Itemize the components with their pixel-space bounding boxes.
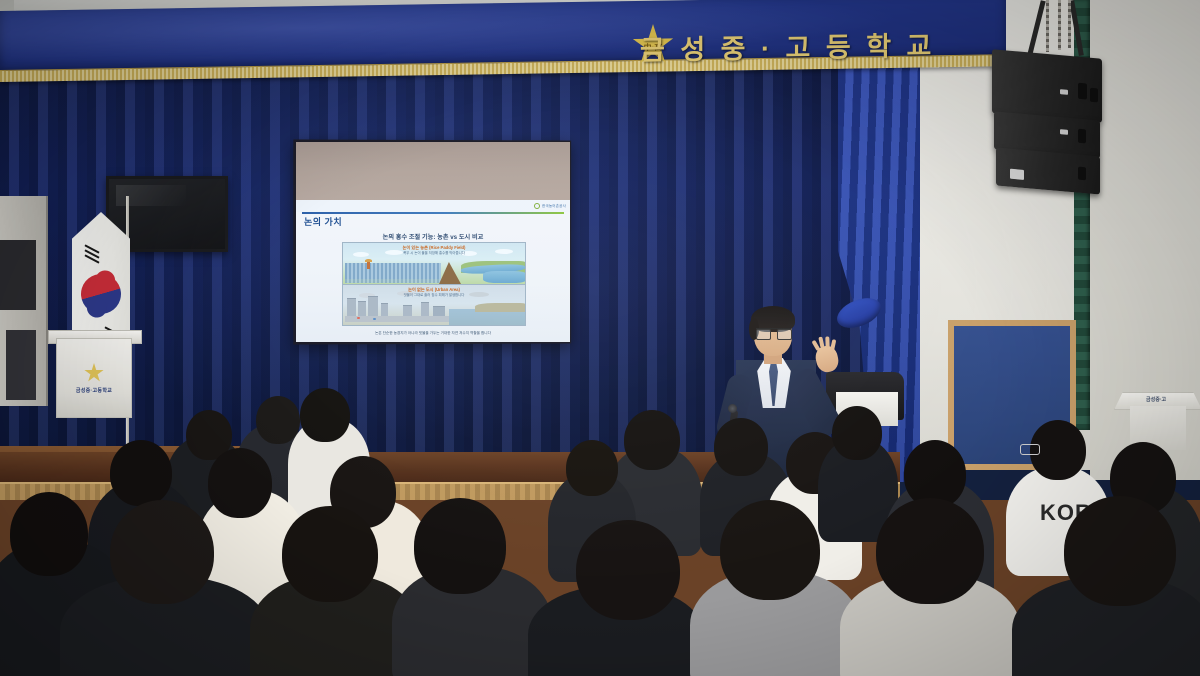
audience-member xyxy=(300,388,350,442)
audience-member xyxy=(1064,496,1176,606)
audience-member xyxy=(208,448,272,518)
audience-member xyxy=(110,440,172,506)
audience-member xyxy=(720,500,820,600)
audience-member xyxy=(876,498,984,604)
audience-member xyxy=(282,506,378,602)
audience-member xyxy=(832,406,882,460)
audience-member xyxy=(624,410,680,470)
audience-member xyxy=(576,520,680,620)
audience: KORE xyxy=(0,0,1200,676)
student-glasses-icon xyxy=(1020,444,1040,455)
audience-member xyxy=(256,396,300,444)
audience-member xyxy=(414,498,506,594)
auditorium-photo: 中·高 금 성 중 · 고 등 학 교 xyxy=(0,0,1200,676)
audience-member xyxy=(714,418,768,476)
audience-member xyxy=(110,500,214,604)
audience-member xyxy=(566,440,618,496)
audience-member xyxy=(10,492,88,576)
